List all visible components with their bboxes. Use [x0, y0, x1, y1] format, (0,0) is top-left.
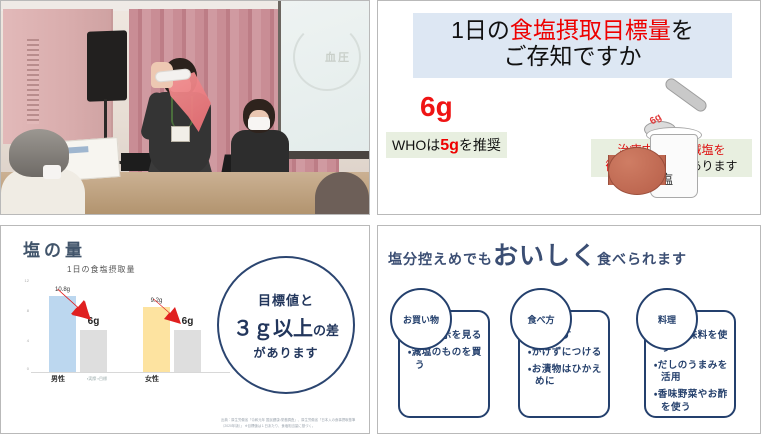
title-highlight: 食塩摂取目標量: [510, 17, 671, 43]
chart-x-axis: 男性 女性: [31, 374, 230, 386]
bar-female-target: 6g: [174, 330, 201, 372]
spoon-handle-icon: [663, 76, 709, 114]
chart-slide-title: 塩の量: [23, 236, 86, 261]
audience-member-right: [315, 172, 369, 214]
tips-heading: 塩分控えめでもおいしく食べられます: [388, 236, 687, 272]
tips-item: ・減塩のものを買う: [408, 347, 483, 373]
screen-text: 血圧: [325, 49, 351, 65]
tips-item: ・お漬物はひかえめに: [528, 364, 603, 390]
callout-line3: があります: [253, 344, 318, 361]
audience-mask: [43, 165, 61, 179]
x-cat-male: 男性: [51, 374, 65, 384]
chart-y-axis: 12 8 4 0: [15, 280, 29, 372]
arrow-male: [57, 288, 97, 322]
legend-item-1: 目標: [99, 376, 107, 381]
tips-item: ・だしのうまみを活用: [654, 360, 729, 386]
slide-grid: 血圧: [0, 0, 761, 434]
who-recommendation-box: WHOは5gを推奨: [386, 132, 507, 158]
slide-title-line2: ご存知ですか: [413, 44, 732, 70]
low-salt-tips-slide: 塩分控えめでもおいしく食べられます ・成分表示を見る ・減塩のものを買う お買い…: [377, 225, 761, 434]
salt-amount-chart-slide: 塩の量 1日の食塩摂取量 12 8 4 0 10.8g 6g: [0, 225, 370, 434]
tips-circle-cooking: 料理: [636, 288, 698, 350]
tips-heading-small: 塩分控えめでも: [388, 251, 493, 267]
seated-staff-mask: [248, 117, 270, 130]
chart-legend: ▪実際 ▪目標: [87, 376, 107, 382]
y-tick-3: 0: [27, 366, 29, 371]
callout-line2: ３ｇ以上の差: [233, 312, 339, 341]
legend-item-0: 実際: [88, 376, 96, 381]
slide-title-line1: 1日の食塩摂取目標量を: [413, 18, 732, 44]
tips-heading-tail: 食べられます: [597, 251, 687, 267]
y-tick-1: 8: [27, 308, 29, 313]
title-suffix: を: [671, 17, 694, 43]
who-prefix: WHOは: [392, 137, 440, 153]
tips-circle-shopping: お買い物: [390, 288, 452, 350]
chart-title: 1日の食塩摂取量: [67, 264, 135, 275]
bar-male-target: 6g: [80, 330, 107, 372]
screen-frame: [281, 151, 369, 159]
chart-source-note: 出典：厚生労働省「令和元年 国民健康・栄養調査」、厚生労働省「日本人の食事摂取基…: [221, 418, 361, 429]
title-prefix: 1日の: [451, 17, 510, 43]
tips-item: ・香味野菜やお酢を使う: [654, 389, 729, 415]
salt-target-slide: 1日の食塩摂取目標量を ご存知ですか 6g WHOは5gを推奨 治療中の方は減塩…: [377, 0, 761, 215]
salt-intake-bar-chart: 1日の食塩摂取量 12 8 4 0 10.8g 6g 9.2g: [15, 264, 230, 394]
chart-plot-area: 10.8g 6g 9.2g 6g: [31, 280, 230, 373]
presenter-badge: [171, 126, 190, 142]
door-vent: [27, 39, 39, 124]
x-cat-female: 女性: [145, 374, 159, 384]
callout-line2-small: の差: [313, 323, 339, 338]
callout-line2-big: ３ｇ以上: [233, 318, 313, 340]
who-suffix: を推奨: [459, 137, 501, 153]
seminar-photo-panel: 血圧: [0, 0, 370, 215]
audience-member-front: [1, 129, 89, 215]
speaker: [87, 30, 127, 101]
arrow-female: [153, 298, 185, 326]
who-amount: 5g: [440, 137, 459, 154]
callout-line1: 目標値と: [258, 290, 314, 309]
y-tick-0: 12: [25, 278, 29, 283]
slide-title-band: 1日の食塩摂取目標量を ご存知ですか: [413, 13, 732, 78]
y-tick-2: 4: [27, 338, 29, 343]
jar-lid-top: [608, 147, 666, 195]
tips-circle-eating: 食べ方: [510, 288, 572, 350]
tips-heading-large: おいしく: [493, 242, 597, 270]
gap-callout-circle: 目標値と ３ｇ以上の差 があります: [217, 256, 355, 394]
target-amount-value: 6g: [420, 91, 453, 123]
salt-jar-illustration: 6g 塩: [600, 89, 720, 209]
